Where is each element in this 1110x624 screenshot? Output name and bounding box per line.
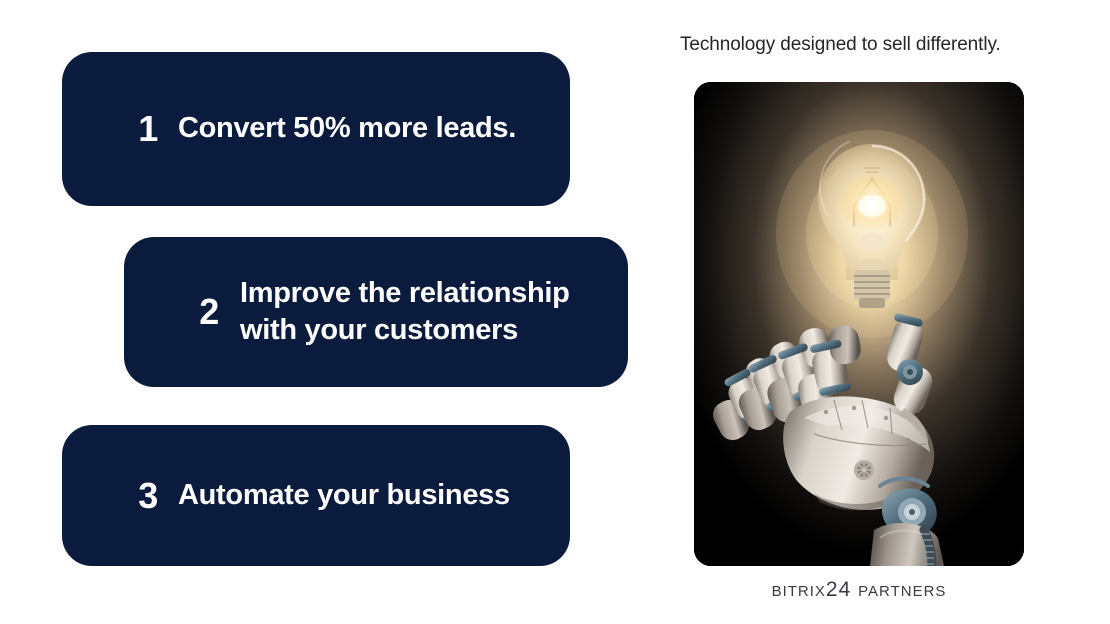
benefit-card-3-text: Automate your business bbox=[178, 477, 570, 514]
tagline-text: Technology designed to sell differently. bbox=[680, 34, 1100, 56]
benefit-card-2-number: 2 bbox=[178, 294, 240, 330]
benefit-card-3[interactable]: 3 Automate your business bbox=[62, 425, 570, 566]
benefit-card-3-number: 3 bbox=[118, 478, 178, 514]
benefit-card-2-text: Improve the relationship with your custo… bbox=[240, 275, 628, 349]
bulb-base bbox=[854, 270, 890, 308]
right-panel: Technology designed to sell differently. bbox=[660, 0, 1110, 624]
benefit-card-1-number: 1 bbox=[118, 111, 178, 147]
benefit-card-1-text: Convert 50% more leads. bbox=[178, 110, 570, 147]
lightbulb bbox=[776, 130, 968, 338]
benefits-card-list: 1 Convert 50% more leads. 2 Improve the … bbox=[0, 0, 660, 624]
hero-image-robotic-hand-lightbulb bbox=[694, 82, 1024, 566]
benefit-card-1[interactable]: 1 Convert 50% more leads. bbox=[62, 52, 570, 206]
bitrix24-partners-logo: Bitrix24 Partners bbox=[694, 578, 1024, 602]
robotic-hand-illustration bbox=[694, 82, 1024, 566]
benefit-card-2[interactable]: 2 Improve the relationship with your cus… bbox=[124, 237, 628, 387]
palm-screw bbox=[854, 460, 874, 480]
slide-root: 1 Convert 50% more leads. 2 Improve the … bbox=[0, 0, 1110, 624]
